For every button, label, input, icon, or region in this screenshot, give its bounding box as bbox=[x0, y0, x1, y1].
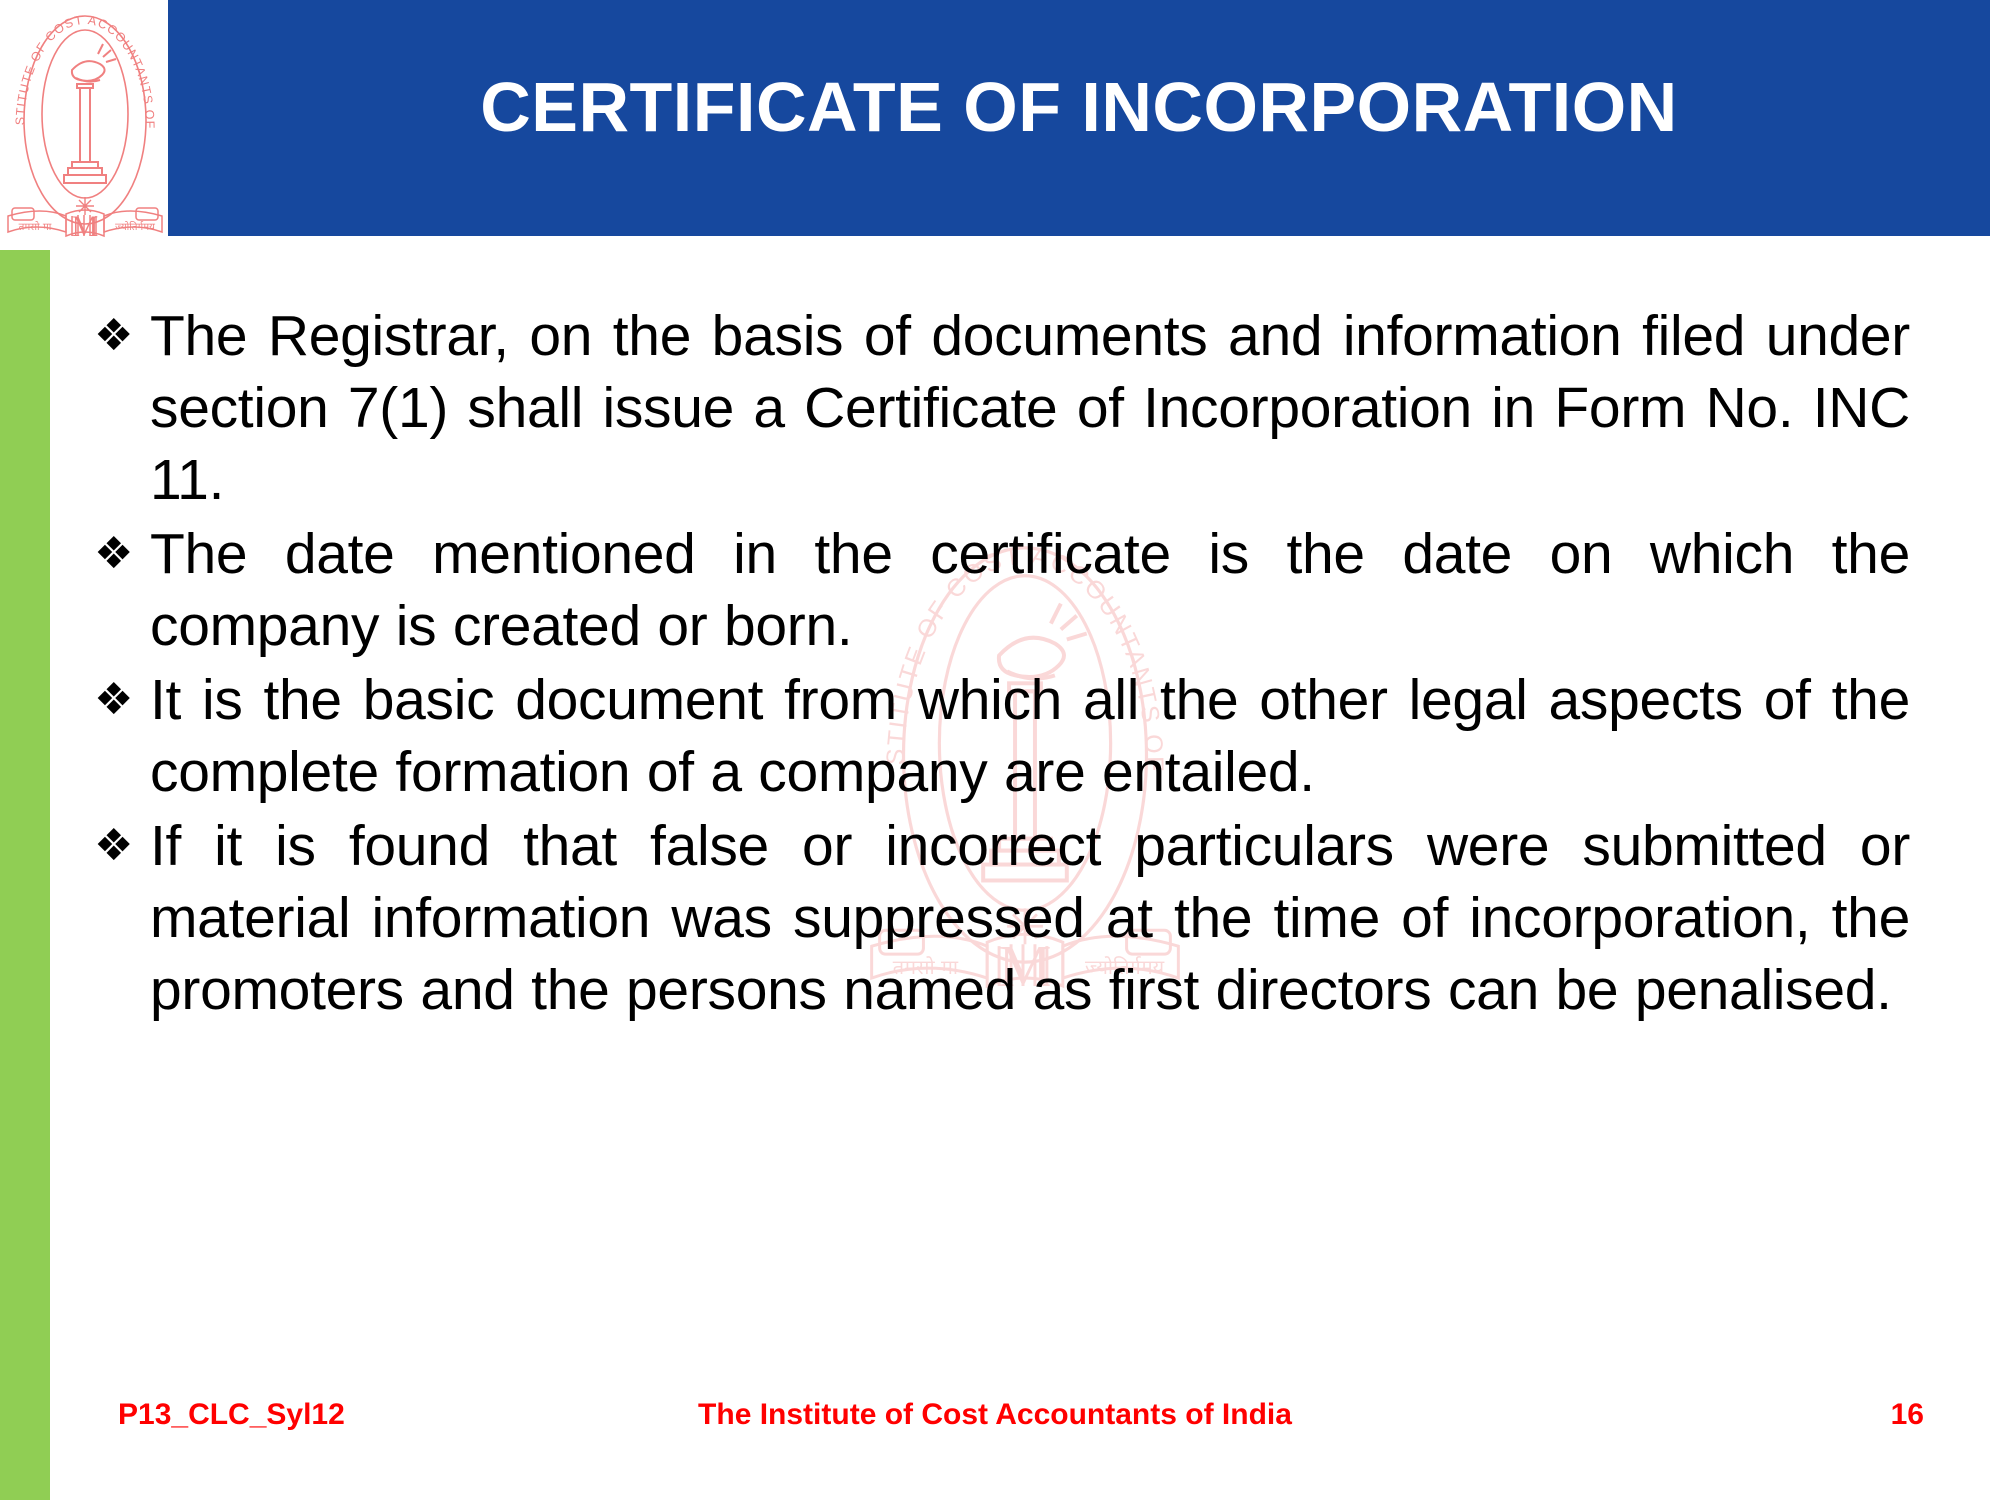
slide-canvas: CERTIFICATE OF INCORPORATION THE INSTITU… bbox=[0, 0, 1990, 1500]
list-item: ❖ If it is found that false or incorrect… bbox=[88, 810, 1910, 1026]
list-item: ❖ The date mentioned in the certificate … bbox=[88, 518, 1910, 662]
slide-footer: P13_CLC_Syl12 The Institute of Cost Acco… bbox=[0, 1398, 1990, 1458]
left-accent-bar bbox=[0, 250, 50, 1500]
list-item-text: The Registrar, on the basis of documents… bbox=[150, 300, 1910, 516]
list-item-text: If it is found that false or incorrect p… bbox=[150, 810, 1910, 1026]
motto-right-text: ज्योतिर्गमय bbox=[115, 221, 155, 233]
list-item-text: The date mentioned in the certificate is… bbox=[150, 518, 1910, 662]
diamond-bullet-icon: ❖ bbox=[88, 518, 150, 590]
motto-left-text: तमसो मा bbox=[19, 221, 52, 233]
bullet-list: ❖ The Registrar, on the basis of documen… bbox=[88, 300, 1910, 1028]
footer-page-number: 16 bbox=[1891, 1398, 1924, 1432]
diamond-bullet-icon: ❖ bbox=[88, 810, 150, 882]
footer-institute-name: The Institute of Cost Accountants of Ind… bbox=[0, 1398, 1990, 1432]
icai-emblem-logo: THE INSTITUTE OF COST ACCOUNTANTS OF IND… bbox=[2, 2, 168, 238]
diamond-bullet-icon: ❖ bbox=[88, 664, 150, 736]
list-item-text: It is the basic document from which all … bbox=[150, 664, 1910, 808]
page-title: CERTIFICATE OF INCORPORATION bbox=[168, 0, 1990, 236]
diamond-bullet-icon: ❖ bbox=[88, 300, 150, 372]
monogram-letter: M bbox=[72, 210, 99, 238]
list-item: ❖ It is the basic document from which al… bbox=[88, 664, 1910, 808]
list-item: ❖ The Registrar, on the basis of documen… bbox=[88, 300, 1910, 516]
